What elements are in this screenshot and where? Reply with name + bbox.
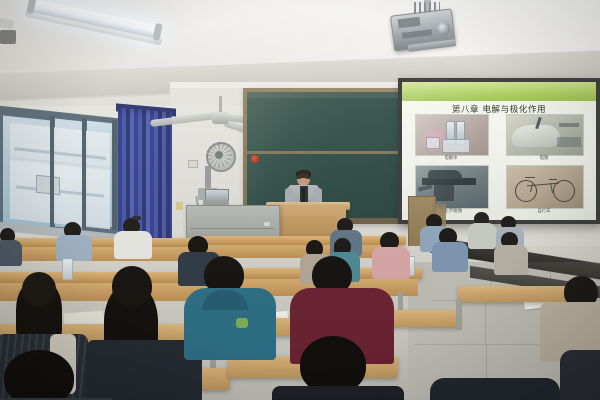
window-mullion — [50, 116, 54, 232]
person-head — [22, 272, 56, 306]
wall-note — [176, 202, 183, 210]
person-torso — [114, 231, 152, 259]
wall-fan-hub — [215, 151, 223, 159]
outside-building — [10, 123, 110, 230]
outside-ac-unit — [36, 175, 60, 196]
person-head — [4, 350, 74, 400]
ceiling-fan-motor — [212, 112, 229, 124]
chalkboard-divider — [247, 151, 410, 154]
window-mullion — [112, 120, 117, 231]
person-torso — [272, 386, 404, 400]
person-torso — [468, 223, 496, 249]
person-torso — [494, 245, 528, 275]
foreground-shoulder — [560, 350, 600, 400]
person-head — [112, 266, 152, 306]
person-torso — [432, 242, 468, 272]
water-bottle — [62, 258, 73, 280]
foreground-shoulder — [430, 378, 560, 400]
desk-row-back — [196, 236, 406, 245]
person-torso — [0, 240, 22, 266]
red-magnet-icon — [251, 155, 259, 163]
bench-row-front — [458, 286, 568, 302]
hoodie-logo-icon — [236, 318, 248, 328]
person-torso — [372, 247, 410, 279]
console-knob — [264, 222, 270, 226]
person-torso — [56, 235, 92, 261]
ceiling-vent-icon — [0, 30, 16, 44]
console-seam — [190, 228, 274, 229]
bench-leg — [456, 300, 462, 330]
lecture-hall-photo: 第八章 电解与极化作用 电解水 电镀 — [0, 0, 600, 400]
lecturer-tie — [302, 188, 305, 202]
window-mullion — [82, 118, 86, 230]
desk-front-panel — [0, 247, 196, 261]
chalkboard-glare — [247, 92, 410, 218]
desk-row-back — [0, 238, 200, 247]
eyeglasses-icon — [132, 216, 141, 220]
wall-socket-icon — [188, 160, 198, 168]
